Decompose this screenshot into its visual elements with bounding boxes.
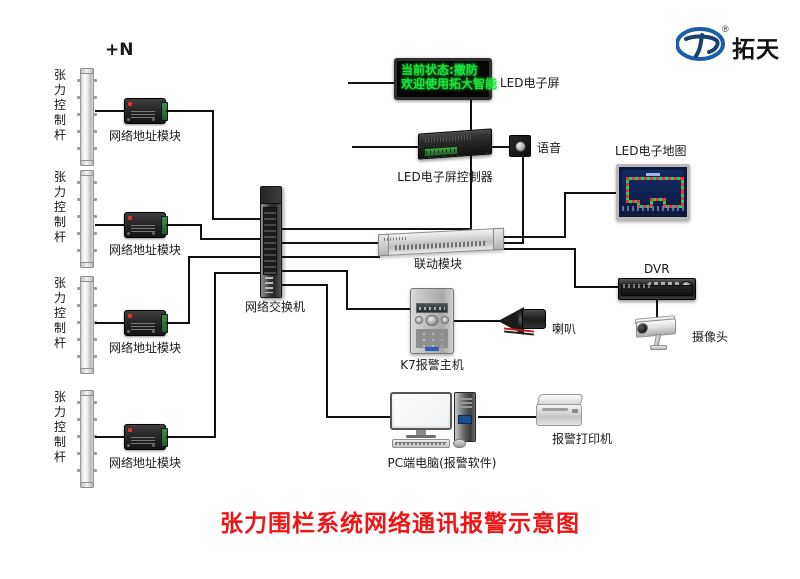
- voice-speaker-device: [509, 135, 531, 157]
- horn-label: 喇叭: [552, 320, 576, 337]
- wire-pole1-to-module1: [95, 110, 125, 112]
- network-address-module-label-4: 网络地址模块: [109, 454, 181, 471]
- tension-pole-label-2: 张力控制杆: [53, 170, 67, 245]
- network-address-module-2: [124, 212, 166, 238]
- security-camera: [628, 316, 684, 354]
- network-address-module-label-2: 网络地址模块: [109, 241, 181, 258]
- wire-module1-to-switch: [212, 218, 260, 220]
- pc-mouse: [453, 439, 466, 448]
- wire-module2-right: [166, 224, 202, 226]
- wire-switch-to-linkage: [282, 256, 380, 258]
- wire-ledctrl-to-voice: [492, 146, 510, 148]
- dvr-device: [618, 278, 696, 300]
- pc-workstation: [390, 392, 494, 450]
- wire-linkage-to-dvr-v: [574, 248, 576, 288]
- led-controller-label: LED电子屏控制器: [397, 168, 493, 185]
- wire-module1-right: [166, 110, 214, 112]
- wire-module1-down: [212, 110, 214, 220]
- diagram-title: 张力围栏系统网络通讯报警示意图: [220, 504, 580, 538]
- wire-ledscreen-stub: [348, 82, 396, 84]
- led-display-screen: 当前状态:撤防 欢迎使用拓大智能: [394, 58, 492, 100]
- voice-speaker-icon: [515, 141, 526, 152]
- dvr-label: DVR: [644, 262, 670, 276]
- pc-monitor: [390, 392, 452, 430]
- wire-linkage-to-map-v: [564, 194, 566, 238]
- wire-module3-to-switch: [188, 256, 260, 258]
- tension-pole-label-4: 张力控制杆: [53, 390, 67, 465]
- pc-tower: [454, 392, 476, 442]
- tension-control-pole-4: [80, 390, 94, 488]
- wire-switch-to-k7-h2: [346, 308, 412, 310]
- tension-pole-label-1: 张力控制杆: [53, 68, 67, 143]
- horn-speaker: [498, 305, 550, 339]
- led-electronic-map: [616, 164, 690, 220]
- pc-label: PC端电脑(报警软件): [388, 454, 497, 471]
- wire-module2-to-switch: [200, 238, 260, 240]
- tension-control-pole-3: [80, 276, 94, 374]
- tension-control-pole-1: [80, 68, 94, 166]
- diagram-canvas: ® 拓天 +N 张力控制杆 网络地址模块 张力控制杆 网络地址模块: [0, 0, 800, 579]
- wire-pole3-to-module3: [95, 322, 125, 324]
- led-screen-controller: [418, 128, 492, 159]
- network-address-module-label-1: 网络地址模块: [109, 127, 181, 144]
- wire-switch-to-ledscreen-h1: [282, 228, 472, 230]
- k7-alarm-host: [410, 288, 454, 354]
- wire-linkage-to-dvr-h2: [574, 286, 618, 288]
- pc-keyboard: [392, 439, 450, 448]
- network-switch: [260, 186, 282, 298]
- network-address-module-1: [124, 98, 166, 124]
- wire-k7-to-horn: [454, 320, 502, 322]
- wire-linkage-to-map-h2: [564, 192, 616, 194]
- network-address-module-4: [124, 424, 166, 450]
- brand-name: 拓天: [732, 30, 780, 64]
- wire-switch-to-k7-h1: [282, 270, 348, 272]
- wire-switch-to-pc-h2: [326, 416, 392, 418]
- led-map-screen: [622, 170, 684, 214]
- wire-switch-to-pc-v: [326, 284, 328, 418]
- printer-label: 报警打印机: [552, 430, 612, 447]
- wire-switch-to-pc-h1: [282, 284, 328, 286]
- wire-linkage-to-dvr-h1: [504, 248, 576, 250]
- led-screen-label: LED电子屏: [500, 74, 560, 91]
- registered-trademark-symbol: ®: [722, 24, 729, 34]
- tuotian-logo-icon: [676, 26, 728, 62]
- wire-module3-right: [166, 322, 190, 324]
- wire-pc-to-printer: [478, 416, 540, 418]
- linkage-module-label: 联动模块: [414, 255, 462, 272]
- wire-module4-right: [166, 436, 216, 438]
- network-address-module-label-3: 网络地址模块: [109, 339, 181, 356]
- linkage-module: [378, 228, 504, 257]
- wire-switch-to-k7-v: [346, 270, 348, 310]
- wire-switch-to-ledctrl-v: [522, 148, 524, 244]
- brand-logo: ® 拓天: [676, 26, 796, 66]
- voice-label: 语音: [537, 139, 561, 156]
- plus-n-label: +N: [105, 40, 133, 60]
- alarm-printer: [536, 394, 584, 428]
- network-address-module-3: [124, 310, 166, 336]
- network-switch-label: 网络交换机: [245, 298, 305, 315]
- tension-control-pole-2: [80, 170, 94, 268]
- camera-label: 摄像头: [692, 328, 728, 345]
- wire-pole4-to-module4: [95, 436, 125, 438]
- wire-module4-to-switch: [214, 272, 260, 274]
- wire-module3-up: [188, 258, 190, 324]
- led-screen-line-1: 当前状态:撤防: [401, 63, 485, 77]
- led-screen-line-2: 欢迎使用拓大智能: [401, 77, 485, 91]
- wire-module4-up: [214, 274, 216, 438]
- led-map-label: LED电子地图: [615, 142, 687, 159]
- wire-linkage-to-map-h1: [504, 236, 566, 238]
- wire-switch-to-ledscreen-v: [470, 84, 472, 230]
- wire-pole2-to-module2: [95, 224, 125, 226]
- tension-pole-label-3: 张力控制杆: [53, 276, 67, 351]
- k7-alarm-host-label: K7报警主机: [400, 356, 464, 373]
